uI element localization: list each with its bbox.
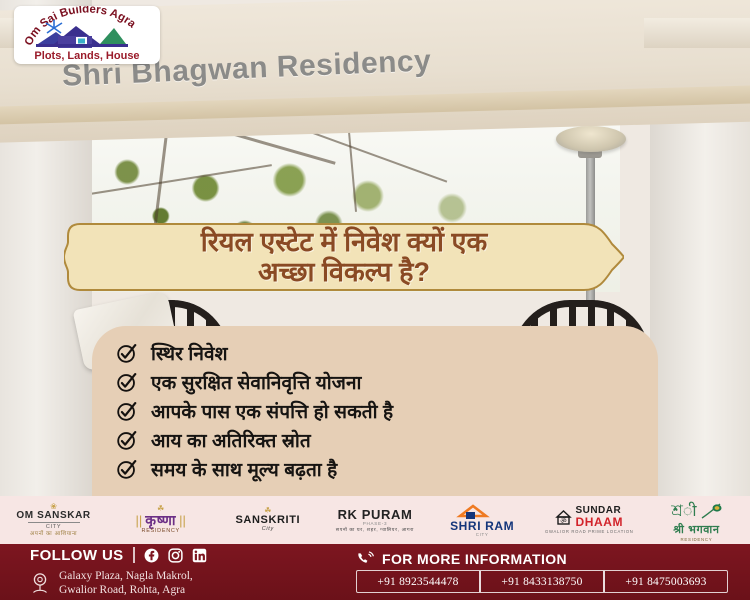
benefits-list: स्थिर निवेश एक सुरक्षित सेवानिवृत्ति योज… xyxy=(116,338,648,483)
svg-text:Plots, Lands, House: Plots, Lands, House xyxy=(34,50,139,62)
benefits-card: स्थिर निवेश एक सुरक्षित सेवानिवृत्ति योज… xyxy=(92,326,658,496)
poster-advertisement: Shri Bhagwan Residency Om Sai Builders A… xyxy=(0,0,750,600)
partner-sub: RESIDENCY xyxy=(142,528,180,535)
partner-name-row: শ্রी xyxy=(671,498,721,525)
partner-name-row: SANSKRITI xyxy=(236,515,301,527)
address-row: Galaxy Plaza, Nagla Makrol, Gwalior Road… xyxy=(30,569,356,598)
headline-line-2: अच्छा विकल्प है? xyxy=(258,257,430,287)
partner-sub: DHAAM xyxy=(575,516,623,529)
partner-name-row: ॐ SUNDAR DHAAM xyxy=(555,506,623,529)
partner-logo-sanskriti-city: ☘ SANSKRITI City xyxy=(214,496,321,544)
divider xyxy=(28,522,80,523)
list-item-label: आय का अतिरिक्त स्रोत xyxy=(151,427,311,453)
phone-ringing-icon xyxy=(356,551,375,567)
partner-logo-shri-ram-city: SHRI RAM CITY xyxy=(429,496,536,544)
peacock-feather-icon xyxy=(700,503,722,520)
partner-tagline: GWALIOR ROAD PRIME LOCATION xyxy=(545,529,633,534)
pillar-cap-right xyxy=(644,18,750,48)
partner-name-row: || कृष्णा || xyxy=(136,513,186,528)
list-item: समय के साथ मूल्य बढ़ता है xyxy=(116,454,648,483)
list-item-label: एक सुरक्षित सेवानिवृत्ति योजना xyxy=(151,369,362,395)
list-item-label: स्थिर निवेश xyxy=(151,340,228,366)
house-roof-icon xyxy=(456,503,508,520)
linkedin-icon[interactable] xyxy=(192,548,207,563)
phone-number-1[interactable]: +91 8923544478 xyxy=(357,571,479,592)
partner-logo-rk-puram: RK PURAM PHASE-3 सपनों का घर, शहर, ग्वाल… xyxy=(321,496,428,544)
more-information-label: FOR MORE INFORMATION xyxy=(382,551,567,567)
facebook-icon[interactable] xyxy=(144,548,159,563)
list-item: स्थिर निवेश xyxy=(116,338,648,367)
partner-logo-shri-bhagwan-residency: শ্রी श्री भगवान RESIDENCY xyxy=(643,496,750,544)
partner-logo-strip: ❀ OM SANSKAR CITY अपनों का आशियाना ☘ || … xyxy=(0,496,750,544)
phone-numbers-box: +91 8923544478 +91 8433138750 +91 847500… xyxy=(356,570,728,593)
check-circle-icon xyxy=(116,371,138,393)
list-item: आय का अतिरिक्त स्रोत xyxy=(116,425,648,454)
location-pin-icon xyxy=(30,571,50,595)
check-circle-icon xyxy=(116,342,138,364)
home-om-icon: ॐ xyxy=(555,509,572,526)
lamp-head xyxy=(556,126,626,152)
headline-text: रियल एस्टेट में निवेश क्यों एक अच्छा विक… xyxy=(64,218,624,296)
phone-number-3[interactable]: +91 8475003693 xyxy=(603,571,727,592)
partner-name: कृष्णा xyxy=(145,513,176,528)
instagram-icon[interactable] xyxy=(168,548,183,563)
partner-name: OM SANSKAR xyxy=(16,511,90,522)
more-information-header: FOR MORE INFORMATION xyxy=(356,551,728,567)
list-item: आपके पास एक संपत्ति हो सकती है xyxy=(116,396,648,425)
svg-text:ॐ: ॐ xyxy=(561,517,568,525)
follow-us-row: FOLLOW US xyxy=(30,547,356,564)
partner-sub: CITY xyxy=(476,532,489,537)
partner-logo-krishna-residency: ☘ || कृष्णा || RESIDENCY xyxy=(107,496,214,544)
brand-logo: Om Sai Builders Agra Plots, Lands, House xyxy=(14,6,160,64)
check-circle-icon xyxy=(116,400,138,422)
address-line-1: Galaxy Plaza, Nagla Makrol, xyxy=(59,569,193,583)
follow-us-label: FOLLOW US xyxy=(30,547,124,564)
headline-line-1: रियल एस्टेट में निवेश क्यों एक xyxy=(201,227,487,257)
address-text: Galaxy Plaza, Nagla Makrol, Gwalior Road… xyxy=(59,569,193,598)
phone-number-2[interactable]: +91 8433138750 xyxy=(479,571,603,592)
partner-sub: CITY xyxy=(46,524,61,531)
divider xyxy=(133,547,135,563)
list-item-label: आपके पास एक संपत्ति हो सकती है xyxy=(151,398,393,424)
partner-name: SHRI RAM xyxy=(450,520,514,533)
list-item-label: समय के साथ मूल्य बढ़ता है xyxy=(151,456,337,482)
footer-bar: FOLLOW US xyxy=(0,544,750,600)
partner-sub: RESIDENCY xyxy=(680,537,712,542)
partner-logo-om-sanskar-city: ❀ OM SANSKAR CITY अपनों का आशियाना xyxy=(0,496,107,544)
right-bracket-icon: || xyxy=(179,513,186,528)
partner-name: RK PURAM xyxy=(338,508,413,522)
headline-banner: रियल एस्टेट में निवेश क्यों एक अच्छा विक… xyxy=(64,218,624,296)
list-item: एक सुरक्षित सेवानिवृत्ति योजना xyxy=(116,367,648,396)
partner-name: SANSKRITI xyxy=(236,515,301,527)
check-circle-icon xyxy=(116,429,138,451)
partner-tagline: सपनों का घर, शहर, ग्वालियर, आगरा xyxy=(336,527,414,533)
partner-sub: City xyxy=(262,526,274,533)
footer-left: FOLLOW US xyxy=(0,547,356,598)
shri-calligraphy-icon: শ্রी xyxy=(671,498,696,525)
footer-right: FOR MORE INFORMATION +91 8923544478 +91 … xyxy=(356,551,750,593)
partner-logo-sundar-dhaam: ॐ SUNDAR DHAAM GWALIOR ROAD PRIME LOCATI… xyxy=(536,496,643,544)
partner-name: श्री भगवान xyxy=(673,525,719,537)
left-bracket-icon: || xyxy=(136,513,143,528)
check-circle-icon xyxy=(116,458,138,480)
address-line-2: Gwalior Road, Rohta, Agra xyxy=(59,583,193,597)
partner-tagline: अपनों का आशियाना xyxy=(30,531,77,538)
